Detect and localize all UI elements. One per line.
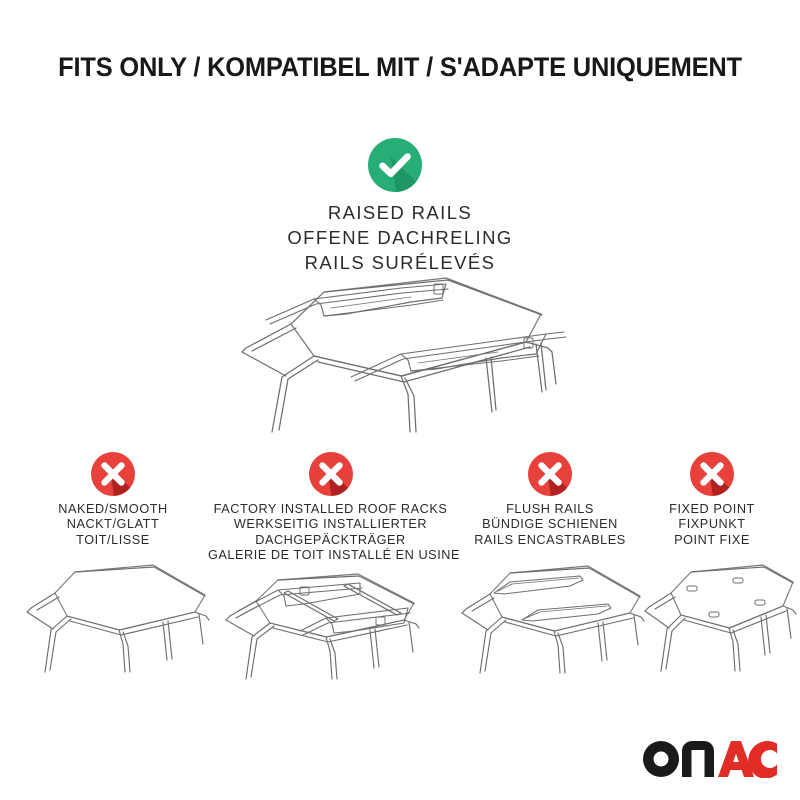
compatible-line-de: OFFENE DACHRELING [0, 225, 800, 250]
caption-line-en: FACTORY INSTALLED ROOF RACKS [208, 502, 453, 517]
caption-line-de1: WERKSEITIG INSTALLIERTER [208, 517, 453, 532]
logo-text: OMAC [642, 778, 643, 779]
caption-line-fr: POINT FIXE [637, 533, 787, 548]
compatible-line-en: RAISED RAILS [0, 200, 800, 225]
car-roof-naked-smooth-illustration [13, 560, 213, 695]
car-roof-with-fixed-points-illustration [637, 560, 797, 695]
x-circle-icon [91, 452, 135, 496]
caption-line-en: NAKED/SMOOTH [13, 502, 213, 517]
caption-line-en: FIXED POINT [637, 502, 787, 517]
car-roof-with-raised-rails-illustration [196, 272, 606, 462]
car-roof-with-factory-cross-bars-illustration [208, 571, 453, 696]
omac-logo: OMAC [642, 740, 778, 778]
infographic-canvas: FITS ONLY / KOMPATIBEL MIT / S'ADAPTE UN… [0, 0, 800, 800]
logo-letter-o [643, 741, 679, 777]
caption: FACTORY INSTALLED ROOF RACKS WERKSEITIG … [208, 502, 453, 564]
x-circle-icon [690, 452, 734, 496]
logo-letter-m [682, 741, 714, 777]
caption-line-en: FLUSH RAILS [452, 502, 648, 517]
check-circle-icon [368, 138, 422, 192]
caption-line-fr: RAILS ENCASTRABLES [452, 533, 648, 548]
x-circle-icon [528, 452, 572, 496]
caption-line-fr: GALERIE DE TOIT INSTALLÉ EN USINE [208, 548, 453, 563]
caption-line-de: FIXPUNKT [637, 517, 787, 532]
logo-letter-c [748, 741, 777, 778]
caption: FIXED POINT FIXPUNKT POINT FIXE [637, 502, 787, 548]
page-title: FITS ONLY / KOMPATIBEL MIT / S'ADAPTE UN… [16, 52, 784, 83]
caption-line-de: BÜNDIGE SCHIENEN [452, 517, 648, 532]
caption-line-fr: TOIT/LISSE [13, 533, 213, 548]
car-roof-with-flush-rails-illustration [452, 560, 648, 695]
caption-line-de: NACKT/GLATT [13, 517, 213, 532]
caption: NAKED/SMOOTH NACKT/GLATT TOIT/LISSE [13, 502, 213, 548]
compatible-caption: RAISED RAILS OFFENE DACHRELING RAILS SUR… [0, 200, 800, 275]
caption: FLUSH RAILS BÜNDIGE SCHIENEN RAILS ENCAS… [452, 502, 648, 548]
caption-line-de2: DACHGEPÄCKTRÄGER [208, 533, 453, 548]
x-circle-icon [309, 452, 353, 496]
